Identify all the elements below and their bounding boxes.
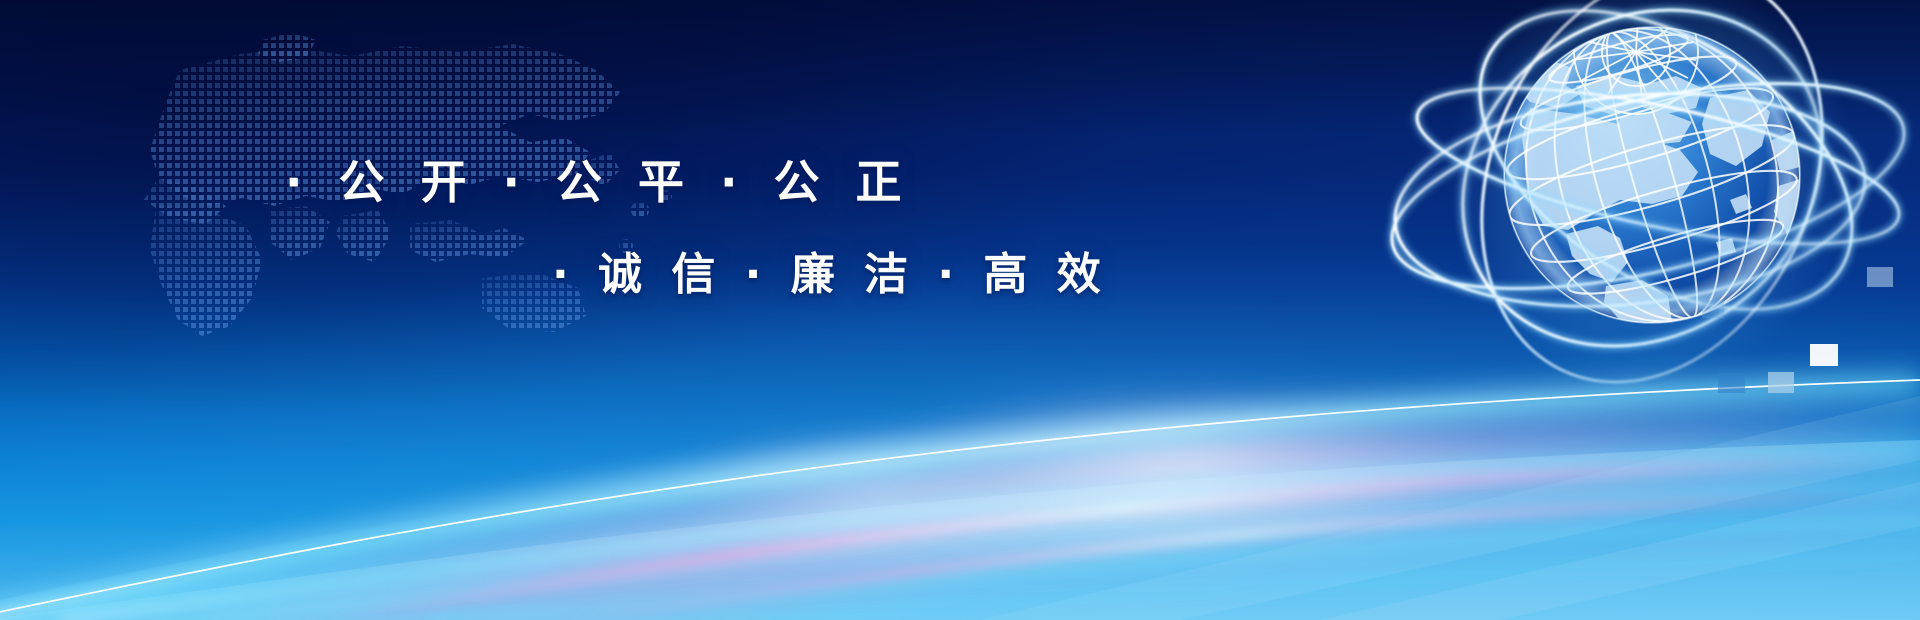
light-streak-wave (0, 300, 1920, 620)
decorative-square-2 (1810, 344, 1838, 366)
decorative-square-3 (1768, 372, 1794, 393)
banner-root: · 公 开 · 公 平 · 公 正 · 诚 信 · 廉 洁 · 高 效 (0, 0, 1920, 620)
decorative-square-1 (1867, 267, 1893, 287)
decorative-square-4 (1718, 373, 1745, 393)
decorative-square-5 (1702, 300, 1724, 318)
halftone-dot-world-map (30, 10, 790, 340)
